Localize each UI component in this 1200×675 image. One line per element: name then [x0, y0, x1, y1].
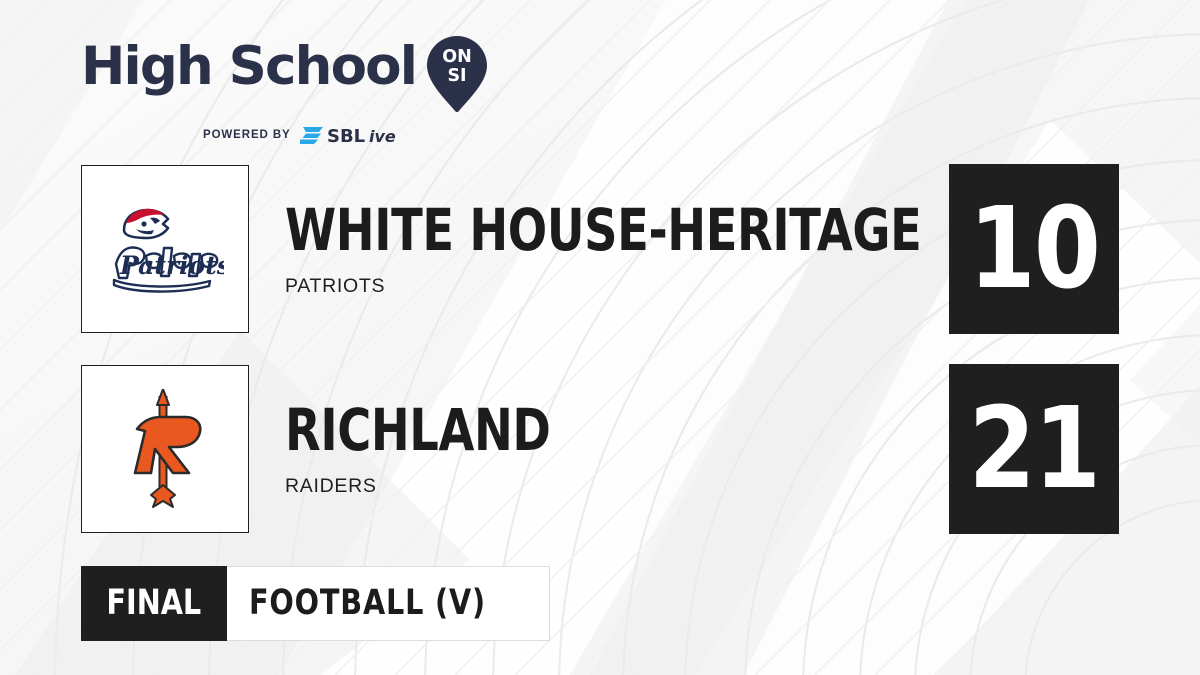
raiders-logo-icon: [115, 389, 215, 509]
game-status-bar: FINAL FOOTBALL (V): [81, 566, 550, 641]
pin-badge-line1: ON: [442, 47, 472, 67]
brand-lockup: High School ON SI POWERED BY: [81, 38, 511, 138]
status-badge: FINAL: [81, 566, 227, 641]
team-score: 21: [969, 393, 1100, 505]
sblive-s-icon: [300, 127, 323, 144]
sport-label-container: FOOTBALL (V): [227, 566, 550, 641]
team-logo-tile: Patriots: [81, 165, 249, 333]
on-si-pin-icon: ON SI: [426, 35, 488, 118]
sblive-ive-text: ive: [369, 127, 396, 146]
team-mascot: RAIDERS: [285, 475, 985, 497]
high-school-wordmark: High School: [81, 38, 416, 96]
team-name: RICHLAND: [285, 401, 845, 459]
svg-text:Patriots: Patriots: [119, 251, 224, 280]
status-state-label: FINAL: [107, 586, 202, 621]
team-score-box: 10: [949, 164, 1119, 334]
sblive-sbl-text: SBL: [327, 126, 365, 146]
team-logo-tile: [81, 365, 249, 533]
team-mascot: PATRIOTS: [285, 275, 985, 297]
team-info: RICHLAND RAIDERS: [285, 365, 985, 533]
brand-row: High School ON SI: [81, 38, 511, 118]
powered-by-label: POWERED BY: [203, 129, 291, 141]
powered-by-row: POWERED BY SBL ive: [203, 124, 511, 146]
team-score: 10: [969, 193, 1100, 305]
patriots-logo-icon: Patriots: [106, 202, 224, 296]
team-score-box: 21: [949, 364, 1119, 534]
patriots-script-text: Patriots: [119, 251, 224, 280]
scoreboard-graphic: High School ON SI POWERED BY: [0, 0, 1200, 675]
team-name: WHITE HOUSE-HERITAGE: [285, 201, 845, 259]
pin-badge-line2: SI: [448, 66, 467, 86]
sblive-logo: SBL ive: [300, 124, 408, 146]
sport-label: FOOTBALL (V): [249, 586, 486, 621]
team-info: WHITE HOUSE-HERITAGE PATRIOTS: [285, 165, 985, 333]
